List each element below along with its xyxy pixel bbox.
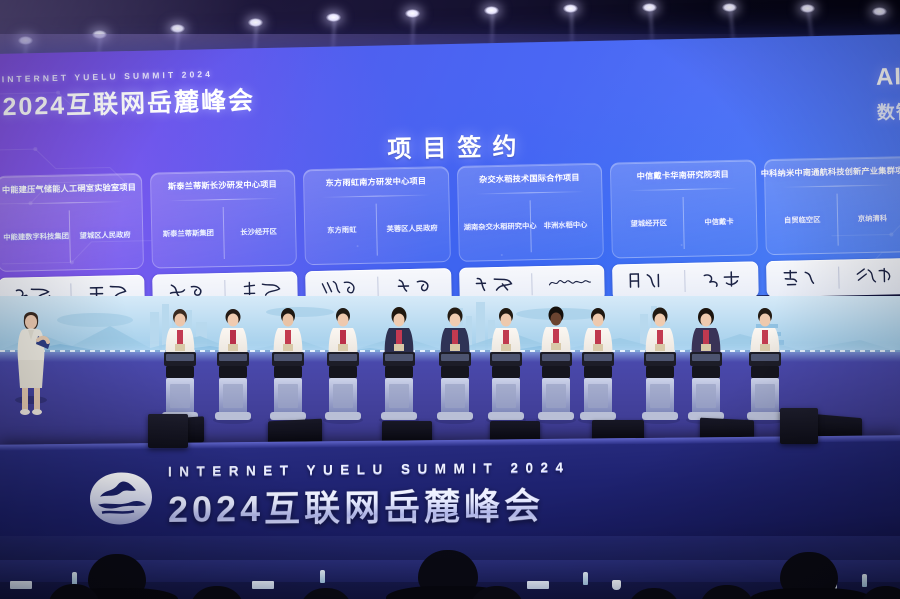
party-right: 中信戴卡 [687, 216, 750, 228]
handwritten-signature-icon [625, 270, 669, 293]
divider [628, 188, 737, 191]
signing-station [488, 352, 524, 420]
handwritten-signature-icon [394, 275, 438, 298]
signatory [536, 307, 576, 425]
signature-right [534, 272, 605, 296]
project-parties: 望城经开区 中信戴卡 [617, 194, 752, 251]
handwritten-signature-icon [779, 267, 823, 290]
name-card [10, 581, 32, 589]
signature-right [687, 268, 758, 292]
tea-cup [612, 580, 621, 590]
signing-station [580, 352, 616, 420]
signatory [323, 308, 363, 424]
audience-member [300, 588, 352, 599]
divider [683, 197, 685, 249]
signing-station [162, 352, 198, 420]
signing-station [688, 352, 724, 420]
project-parties: 湖南杂交水稻研究中心 非洲水稻中心 [463, 198, 598, 255]
project-card: 杂交水稻技术国际合作项目 湖南杂交水稻研究中心 非洲水稻中心 [456, 163, 604, 262]
handwritten-signature-icon [701, 269, 745, 292]
divider [322, 194, 431, 197]
banner-title-en: INTERNET YUELU SUMMIT 2024 [168, 459, 571, 478]
signing-station [325, 352, 361, 420]
project-title: 中信戴卡华南研究院项目 [637, 169, 730, 183]
signatory [213, 309, 253, 424]
divider [15, 201, 124, 204]
project-card-list: 中能建压气储能人工硐室实验室项目 中能建数字科技集团 望城区人民政府 斯泰兰蒂斯… [0, 156, 900, 272]
party-left: 斯泰兰蒂斯集团 [157, 228, 220, 240]
divider [531, 273, 532, 295]
signature-right [841, 265, 900, 289]
signing-station [381, 352, 417, 420]
divider [838, 267, 839, 289]
stage-speaker [148, 414, 188, 448]
party-left: 湖南杂交水稻研究中心 [464, 221, 527, 233]
audience-member [860, 586, 900, 599]
signatory [640, 308, 680, 425]
divider [836, 194, 838, 246]
signatory-row [0, 300, 900, 430]
signing-station [538, 352, 574, 420]
divider [376, 204, 378, 256]
project-title: 斯泰兰蒂斯长沙研发中心项目 [168, 179, 277, 193]
signature-left [612, 270, 683, 294]
name-card [252, 581, 274, 589]
project-parties: 自贸临空区 京纳清科 [770, 191, 900, 248]
project-title: 东方雨虹南方研发中心项目 [325, 176, 426, 190]
signing-station [270, 352, 306, 420]
project-parties: 东方雨虹 芙蓉区人民政府 [310, 201, 445, 258]
project-title: 杂交水稻技术国际合作项目 [479, 172, 580, 186]
divider [69, 210, 71, 262]
banner-title-cn: 2024互联网岳麓峰会 [168, 476, 571, 532]
signatory [686, 308, 726, 424]
divider [782, 184, 891, 187]
signatory [379, 307, 419, 424]
audience-area [0, 536, 900, 599]
water-bottle [862, 574, 867, 587]
signing-station [437, 352, 473, 420]
handwritten-signature-icon [546, 272, 592, 295]
ceiling-light [92, 30, 107, 39]
screen-summit-logo-cn: 2024互联网岳麓峰会 [2, 81, 255, 123]
project-card: 中能建压气储能人工硐室实验室项目 中能建数字科技集团 望城区人民政府 [0, 173, 144, 272]
signature-panel [765, 258, 900, 297]
project-title: 中能建压气储能人工硐室实验室项目 [2, 182, 136, 197]
screen-theme-text: AI湖 数智 [875, 56, 900, 125]
signature-left [459, 273, 530, 297]
water-bottle [583, 572, 588, 585]
divider [475, 191, 584, 194]
conference-stage-photo: INTERNET YUELU SUMMIT 2024 2024互联网岳麓峰会 A… [0, 0, 900, 599]
signing-station [642, 352, 678, 420]
divider [684, 270, 685, 292]
party-right: 京纳清科 [841, 213, 900, 225]
project-card: 中信戴卡华南研究院项目 望城经开区 中信戴卡 [610, 159, 758, 258]
banner-text-block: INTERNET YUELU SUMMIT 2024 2024互联网岳麓峰会 [168, 459, 571, 532]
party-left: 中能建数字科技集团 [3, 231, 66, 243]
ceiling-light [18, 36, 33, 45]
ceiling-light [872, 7, 887, 16]
signatory [578, 308, 618, 424]
party-right: 长沙经开区 [227, 226, 290, 238]
project-title: 中科纳米中南通航科技创新产业集群项目 [761, 165, 900, 180]
signatory [268, 308, 308, 424]
water-bottle [320, 570, 325, 583]
handwritten-signature-icon [854, 265, 898, 288]
audience-member [750, 588, 872, 599]
party-right: 非洲水稻中心 [534, 220, 597, 232]
signing-station [747, 352, 783, 420]
handwritten-signature-icon [472, 274, 516, 297]
party-left: 望城经开区 [617, 218, 680, 230]
divider [222, 207, 224, 259]
project-card: 东方雨虹南方研发中心项目 东方雨虹 芙蓉区人民政府 [303, 166, 451, 265]
yuelu-mountain-logo-icon [88, 470, 154, 527]
party-right: 望城区人民政府 [73, 230, 136, 242]
signatory [745, 308, 785, 424]
project-card: 中科纳米中南通航科技创新产业集群项目 自贸临空区 京纳清科 [763, 156, 900, 255]
signature-panel [612, 261, 758, 300]
stage-speaker [780, 408, 818, 444]
party-left: 自贸临空区 [771, 214, 834, 226]
signature-left [766, 267, 837, 291]
signatory [486, 308, 526, 424]
project-card: 斯泰兰蒂斯长沙研发中心项目 斯泰兰蒂斯集团 长沙经开区 [149, 169, 297, 268]
name-card [527, 581, 549, 589]
project-parties: 斯泰兰蒂斯集团 长沙经开区 [156, 204, 291, 261]
screen-summit-logo: INTERNET YUELU SUMMIT 2024 2024互联网岳麓峰会 [2, 68, 256, 123]
project-parties: 中能建数字科技集团 望城区人民政府 [3, 208, 138, 265]
audience-member [700, 585, 754, 599]
screen-theme-line1: AI湖 [875, 56, 900, 92]
audience-member [190, 586, 244, 599]
main-led-screen: INTERNET YUELU SUMMIT 2024 2024互联网岳麓峰会 A… [0, 34, 900, 312]
signing-station [215, 352, 251, 420]
party-right: 芙蓉区人民政府 [380, 223, 443, 235]
party-left: 东方雨虹 [310, 224, 373, 236]
divider [168, 198, 277, 201]
signatory [435, 308, 475, 425]
signatory [160, 309, 200, 424]
audience-member [628, 588, 680, 599]
